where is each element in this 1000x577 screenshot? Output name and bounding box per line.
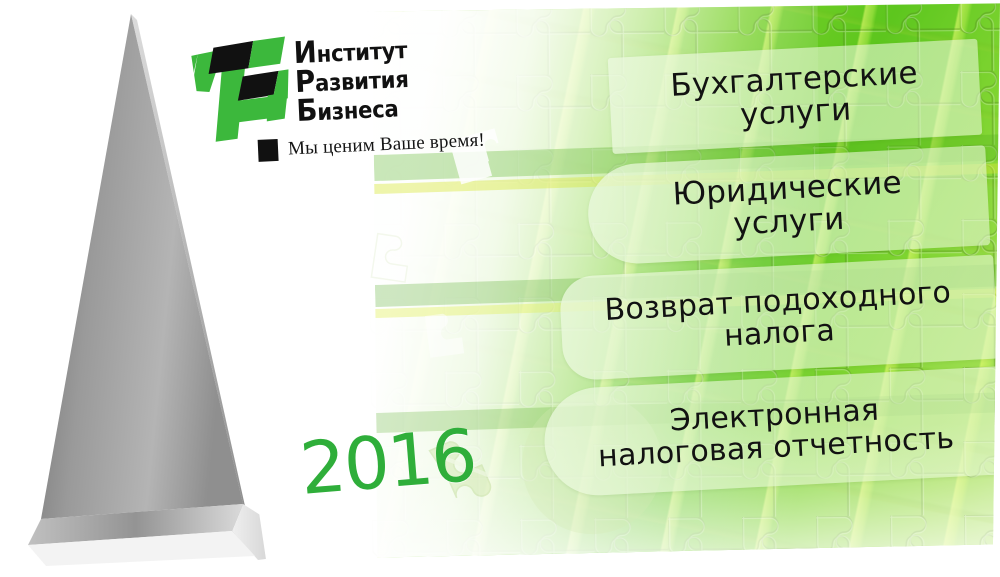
- service-line: налоговая отчетность: [597, 423, 955, 473]
- service-line: услуги: [739, 93, 852, 132]
- slogan-bullet-icon: [258, 139, 279, 162]
- service-band-accounting[interactable]: Бухгалтерские услуги: [608, 39, 983, 154]
- company-name: Институт Развития Бизнеса: [293, 31, 497, 126]
- puzzle-piece-loose-3: [414, 299, 484, 369]
- puzzle-piece-loose-2: [360, 222, 433, 295]
- tent-card-front-face: Институт Развития Бизнеса Мы ценим Ваше …: [120, 0, 1000, 560]
- irb-monogram-icon: [167, 36, 292, 146]
- year-label: 2016: [297, 413, 478, 511]
- service-line: налога: [723, 315, 835, 353]
- service-line: услуги: [732, 203, 845, 242]
- service-band-legal[interactable]: Юридические услуги: [586, 145, 991, 266]
- tent-card-mockup: Институт Развития Бизнеса Мы ценим Ваше …: [0, 0, 1000, 577]
- slogan-text: Мы ценим Ваше время!: [288, 130, 486, 161]
- company-logo: Институт Развития Бизнеса Мы ценим Ваше …: [167, 26, 513, 171]
